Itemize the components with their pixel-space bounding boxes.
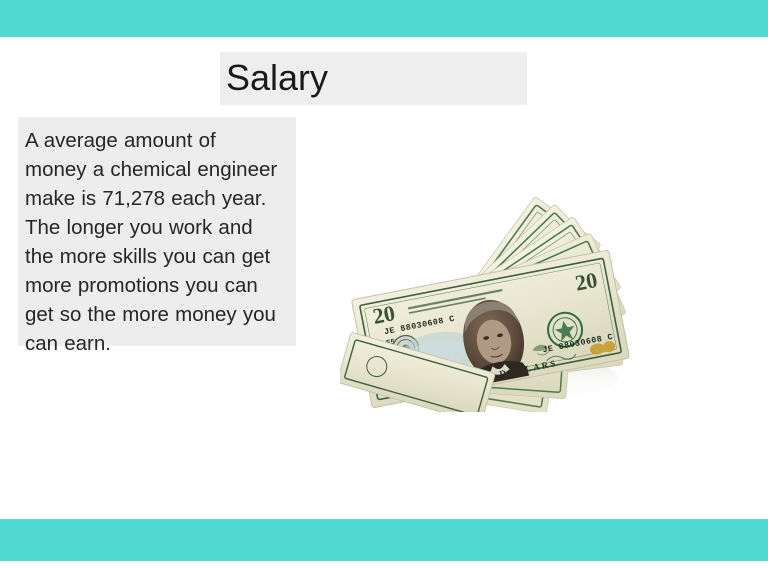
money-illustration: 20 20 20 xyxy=(340,160,662,412)
bill-denomination-top-right: 20 xyxy=(573,267,599,296)
page-title: Salary xyxy=(226,55,527,101)
body-paragraph: A average amount of money a chemical eng… xyxy=(25,126,290,358)
top-accent-band xyxy=(0,0,768,37)
slide-canvas: Salary A average amount of money a chemi… xyxy=(0,0,768,561)
body-text-panel: A average amount of money a chemical eng… xyxy=(18,117,296,346)
bottom-accent-band xyxy=(0,519,768,561)
slide-title-panel: Salary xyxy=(220,52,527,105)
money-photo: 20 20 20 xyxy=(340,160,662,412)
